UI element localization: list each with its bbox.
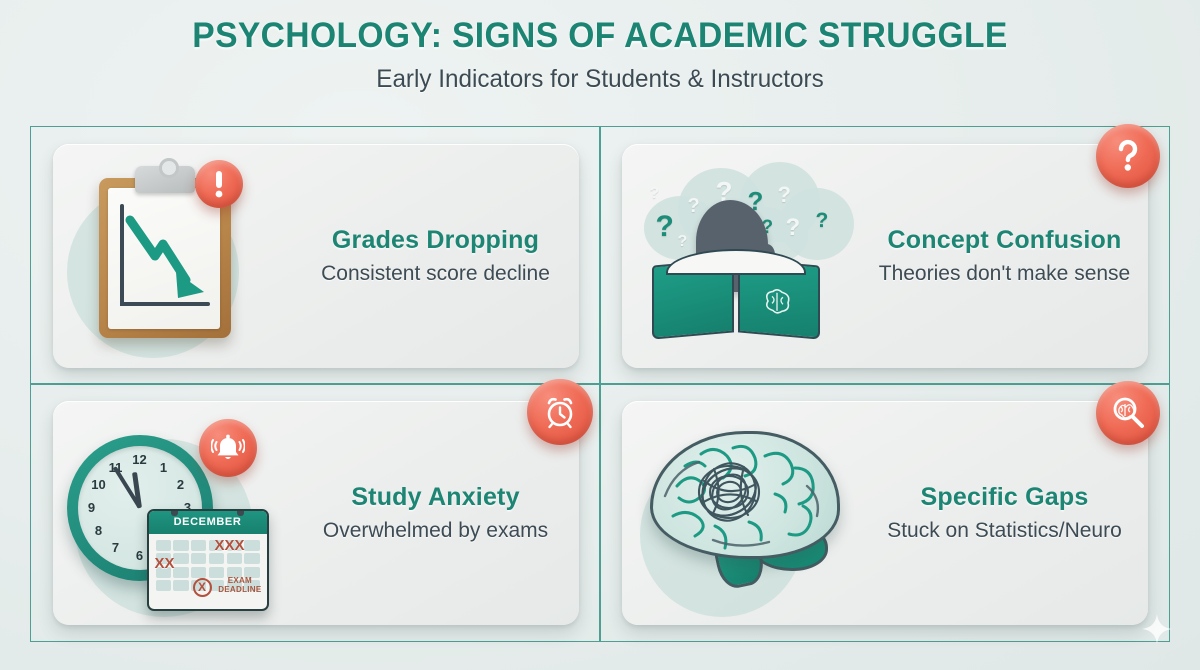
calendar-cell	[191, 540, 206, 551]
clock-numeral: 2	[173, 478, 189, 492]
deadline-line-2: DEADLINE	[218, 585, 261, 594]
question-mark-glyph: ?	[688, 196, 700, 216]
magnifier-icon	[1111, 396, 1145, 430]
card-specific-gaps[interactable]: Specific Gaps Stuck on Statistics/Neuro	[622, 401, 1148, 625]
question-mark-icon	[1116, 138, 1140, 174]
declining-chart-svg	[108, 188, 220, 328]
question-mark-glyph: ?	[778, 184, 791, 206]
calendar-cell	[244, 553, 259, 564]
card-title: Grades Dropping	[303, 226, 569, 255]
card-concept-confusion[interactable]: ? ? ? ? ? ? ? ? ? ?	[622, 144, 1148, 368]
calendar-cell	[227, 553, 242, 564]
brain-shape	[650, 431, 846, 591]
calendar-cell	[156, 580, 171, 591]
calendar-circled-x: X	[193, 578, 212, 597]
calendar-x-mark: XXX	[215, 538, 245, 553]
brain-emblem-icon	[762, 286, 794, 317]
poster-header: Psychology: Signs of Academic Struggle E…	[0, 16, 1200, 94]
card-text-zone: Study Anxiety Overwhelmed by exams	[303, 483, 579, 543]
ringing-bell-badge	[199, 419, 257, 477]
card-subtitle: Stuck on Statistics/Neuro	[872, 519, 1138, 543]
clipboard-declining-chart-icon	[53, 144, 303, 368]
card-text-zone: Grades Dropping Consistent score decline	[303, 226, 579, 286]
clock-numeral: 8	[91, 524, 107, 538]
alarm-clock-icon	[542, 394, 578, 430]
question-mark-glyph: ?	[816, 210, 829, 231]
calendar: DECEMBER	[147, 509, 269, 611]
clock-numeral: 6	[132, 549, 148, 563]
clock-numeral: 12	[132, 453, 148, 467]
card-text-zone: Specific Gaps Stuck on Statistics/Neuro	[872, 483, 1148, 543]
deadline-line-1: EXAM	[228, 576, 252, 585]
calendar-month: DECEMBER	[149, 511, 267, 534]
calendar-cell	[209, 553, 224, 564]
card-title: Specific Gaps	[872, 483, 1138, 512]
sparkle-icon	[1142, 614, 1172, 644]
calendar-cell	[173, 540, 188, 551]
question-mark-glyph: ?	[786, 216, 801, 240]
quadrant-bottom-left: 12 1 2 3 4 5 6 7 8 9 10 11	[30, 383, 601, 642]
clipboard-paper	[108, 188, 220, 329]
question-mark-glyph: ?	[656, 212, 674, 242]
calendar-cell	[244, 540, 259, 551]
card-text-zone: Concept Confusion Theories don't make se…	[872, 226, 1148, 286]
card-subtitle: Consistent score decline	[303, 262, 569, 286]
calendar-cell	[156, 540, 171, 551]
card-grades-dropping[interactable]: Grades Dropping Consistent score decline	[53, 144, 579, 368]
page-subtitle: Early Indicators for Students & Instruct…	[18, 65, 1182, 94]
ringing-bell-icon	[211, 433, 245, 463]
card-study-anxiety[interactable]: 12 1 2 3 4 5 6 7 8 9 10 11	[53, 401, 579, 625]
question-mark-glyph: ?	[650, 186, 660, 202]
quadrant-bottom-right: Specific Gaps Stuck on Statistics/Neuro	[599, 383, 1170, 642]
exclamation-icon	[211, 169, 227, 199]
open-book	[652, 262, 820, 336]
cards-grid: Grades Dropping Consistent score decline…	[30, 126, 1170, 642]
question-mark-glyph: ?	[678, 234, 688, 250]
calendar-cell	[173, 553, 188, 564]
exclamation-badge	[195, 160, 243, 208]
calendar-cell	[191, 567, 206, 578]
clock-numeral: 9	[84, 501, 100, 515]
calendar-ring	[171, 509, 178, 516]
card-title: Concept Confusion	[872, 226, 1138, 255]
card-title: Study Anxiety	[303, 483, 569, 512]
tangled-knot-icon	[694, 461, 764, 523]
calendar-grid: XXX XX X EXAM DEADLINE	[149, 534, 267, 598]
clock-numeral: 10	[91, 478, 107, 492]
question-mark-badge	[1096, 124, 1160, 188]
head-reading-book-question-cloud-icon: ? ? ? ? ? ? ? ? ? ?	[622, 144, 872, 368]
calendar-deadline-label: EXAM DEADLINE	[218, 576, 261, 594]
quadrant-top-right: ? ? ? ? ? ? ? ? ? ?	[599, 126, 1170, 385]
card-subtitle: Theories don't make sense	[872, 262, 1138, 286]
clock-numeral: 7	[108, 541, 124, 555]
quadrant-top-left: Grades Dropping Consistent score decline	[30, 126, 601, 385]
clock-calendar-deadline-icon: 12 1 2 3 4 5 6 7 8 9 10 11	[53, 401, 303, 625]
magnifier-badge	[1096, 381, 1160, 445]
alarm-clock-badge	[527, 379, 593, 445]
card-subtitle: Overwhelmed by exams	[303, 519, 569, 543]
clipboard-clip	[135, 166, 195, 193]
page-title: Psychology: Signs of Academic Struggle	[24, 16, 1176, 56]
calendar-cell	[191, 553, 206, 564]
calendar-x-mark: XX	[155, 556, 175, 571]
calendar-cell	[173, 567, 188, 578]
tangled-brain-icon	[622, 401, 872, 625]
infographic-poster: Psychology: Signs of Academic Struggle E…	[0, 0, 1200, 670]
clock-numeral: 1	[156, 461, 172, 475]
calendar-cell	[173, 580, 188, 591]
calendar-ring	[237, 509, 244, 516]
